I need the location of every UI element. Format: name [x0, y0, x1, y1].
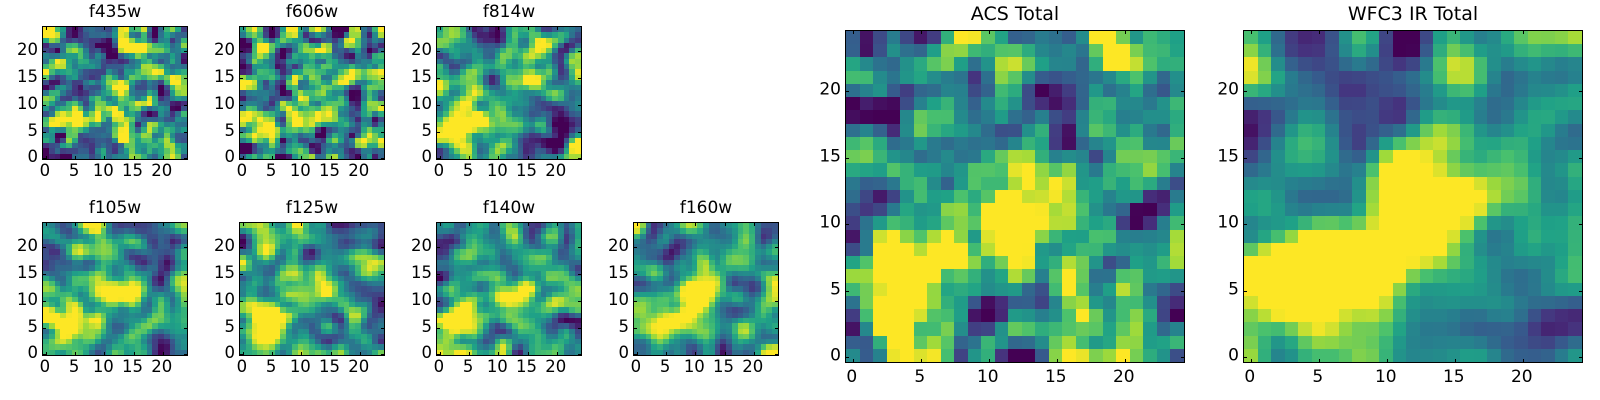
y-tick-mark: [1243, 224, 1247, 225]
y-tick-label: 5: [1209, 281, 1239, 298]
x-tick-mark-top: [1319, 30, 1320, 34]
figure-canvas: f435w0510152005101520f606w05101520051015…: [0, 0, 1600, 400]
y-tick-label: 20: [1209, 81, 1239, 98]
panel-title: WFC3 IR Total: [1243, 5, 1583, 24]
x-tick-mark: [1387, 359, 1388, 363]
total-panel-wfc3: WFC3 IR Total0510152005101520: [0, 0, 1600, 400]
plot-axes-total: [1243, 30, 1583, 363]
x-tick-mark: [1319, 359, 1320, 363]
y-tick-mark: [1243, 158, 1247, 159]
y-tick-label: 10: [1209, 215, 1239, 232]
x-tick-mark-top: [1251, 30, 1252, 34]
x-tick-label: 0: [1244, 369, 1255, 386]
y-tick-label: 15: [1209, 148, 1239, 165]
x-tick-label: 10: [1375, 369, 1397, 386]
x-tick-label: 5: [1312, 369, 1323, 386]
heatmap-image: [1244, 31, 1582, 362]
y-tick-mark: [1243, 91, 1247, 92]
x-tick-mark-top: [1387, 30, 1388, 34]
x-tick-label: 15: [1443, 369, 1465, 386]
y-tick-mark: [1243, 291, 1247, 292]
x-tick-label: 20: [1511, 369, 1533, 386]
y-tick-mark-right: [1579, 291, 1583, 292]
y-tick-mark-right: [1579, 91, 1583, 92]
y-tick-mark-right: [1579, 224, 1583, 225]
y-tick-mark-right: [1579, 158, 1583, 159]
x-tick-mark: [1251, 359, 1252, 363]
x-tick-mark-top: [1523, 30, 1524, 34]
y-tick-mark: [1243, 357, 1247, 358]
x-tick-mark: [1523, 359, 1524, 363]
x-tick-mark-top: [1455, 30, 1456, 34]
y-tick-mark-right: [1579, 357, 1583, 358]
y-tick-label: 0: [1209, 348, 1239, 365]
x-tick-mark: [1455, 359, 1456, 363]
